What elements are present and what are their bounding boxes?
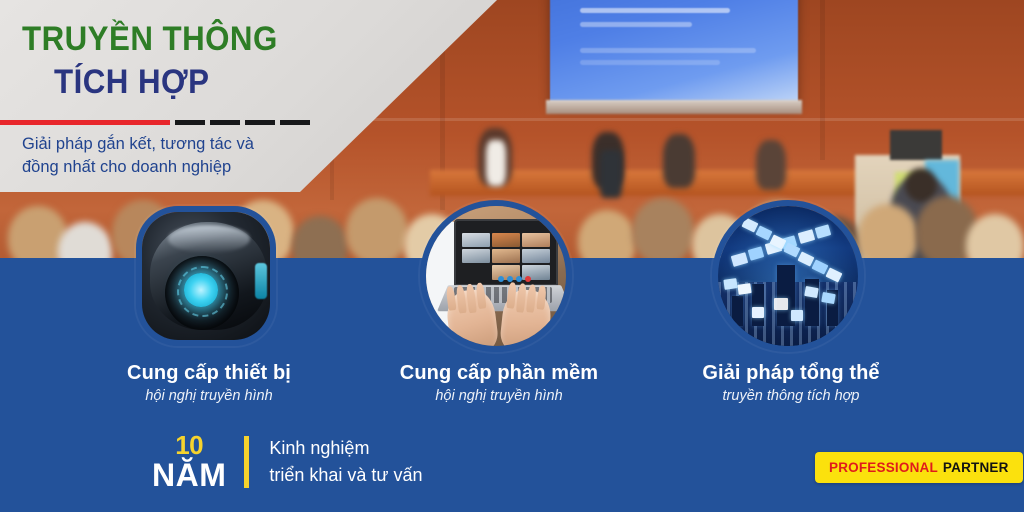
service-title: Giải pháp tổng thể: [678, 362, 904, 385]
service-subtitle: truyền thông tích hợp: [678, 388, 904, 404]
experience-number: 10: [175, 432, 203, 458]
night-city-screens-icon[interactable]: [712, 200, 864, 352]
service-label-3: Giải pháp tổng thể truyền thông tích hợp: [678, 362, 904, 404]
divider-dash: [210, 120, 240, 125]
service-title: Cung cấp phần mềm: [386, 362, 612, 385]
typing-hand-right: [499, 288, 553, 352]
experience-text: Kinh nghiệm triển khai và tư vấn: [269, 435, 422, 487]
experience-text-line1: Kinh nghiệm: [269, 435, 422, 461]
page-title-line2: TÍCH HỢP: [54, 65, 411, 99]
experience-unit: NĂM: [152, 459, 226, 491]
experience-badge: 10 NĂM Kinh nghiệm triển khai và tư vấn: [152, 432, 423, 491]
partner-word-professional: PROFESSIONAL: [829, 460, 938, 475]
page-title-line1: TRUYỀN THÔNG: [22, 22, 408, 56]
laptop-video-call-icon[interactable]: [420, 200, 572, 352]
projector-screen-frame: [546, 100, 802, 114]
divider-dash: [245, 120, 275, 125]
service-label-2: Cung cấp phần mềm hội nghị truyền hình: [386, 362, 612, 404]
subtitle-line2: đồng nhất cho doanh nghiệp: [22, 156, 322, 179]
experience-years: 10 NĂM: [152, 432, 226, 491]
service-subtitle: hội nghị truyền hình: [386, 388, 612, 404]
webcam-lens-icon[interactable]: [136, 206, 276, 346]
divider-dash: [175, 120, 205, 125]
divider-red-bar: [0, 120, 170, 125]
divider-dash: [280, 120, 310, 125]
projector-screen: [550, 0, 798, 106]
experience-text-line2: triển khai và tư vấn: [269, 462, 422, 488]
service-subtitle: hội nghị truyền hình: [96, 388, 322, 404]
divider: [0, 120, 310, 125]
subtitle-block: Giải pháp gắn kết, tương tác và đồng nhấ…: [22, 133, 322, 179]
marketing-banner: TRUYỀN THÔNG TÍCH HỢP Giải pháp gắn kết,…: [0, 0, 1024, 512]
experience-divider-bar: [244, 436, 249, 488]
partner-word-partner: PARTNER: [943, 460, 1009, 475]
podium-laptop-icon: [890, 130, 942, 160]
service-label-1: Cung cấp thiết bị hội nghị truyền hình: [96, 362, 322, 404]
subtitle-line1: Giải pháp gắn kết, tương tác và: [22, 133, 322, 156]
headline-block: TRUYỀN THÔNG TÍCH HỢP: [22, 22, 442, 99]
professional-partner-badge[interactable]: PROFESSIONAL PARTNER: [815, 452, 1023, 483]
service-title: Cung cấp thiết bị: [96, 362, 322, 385]
